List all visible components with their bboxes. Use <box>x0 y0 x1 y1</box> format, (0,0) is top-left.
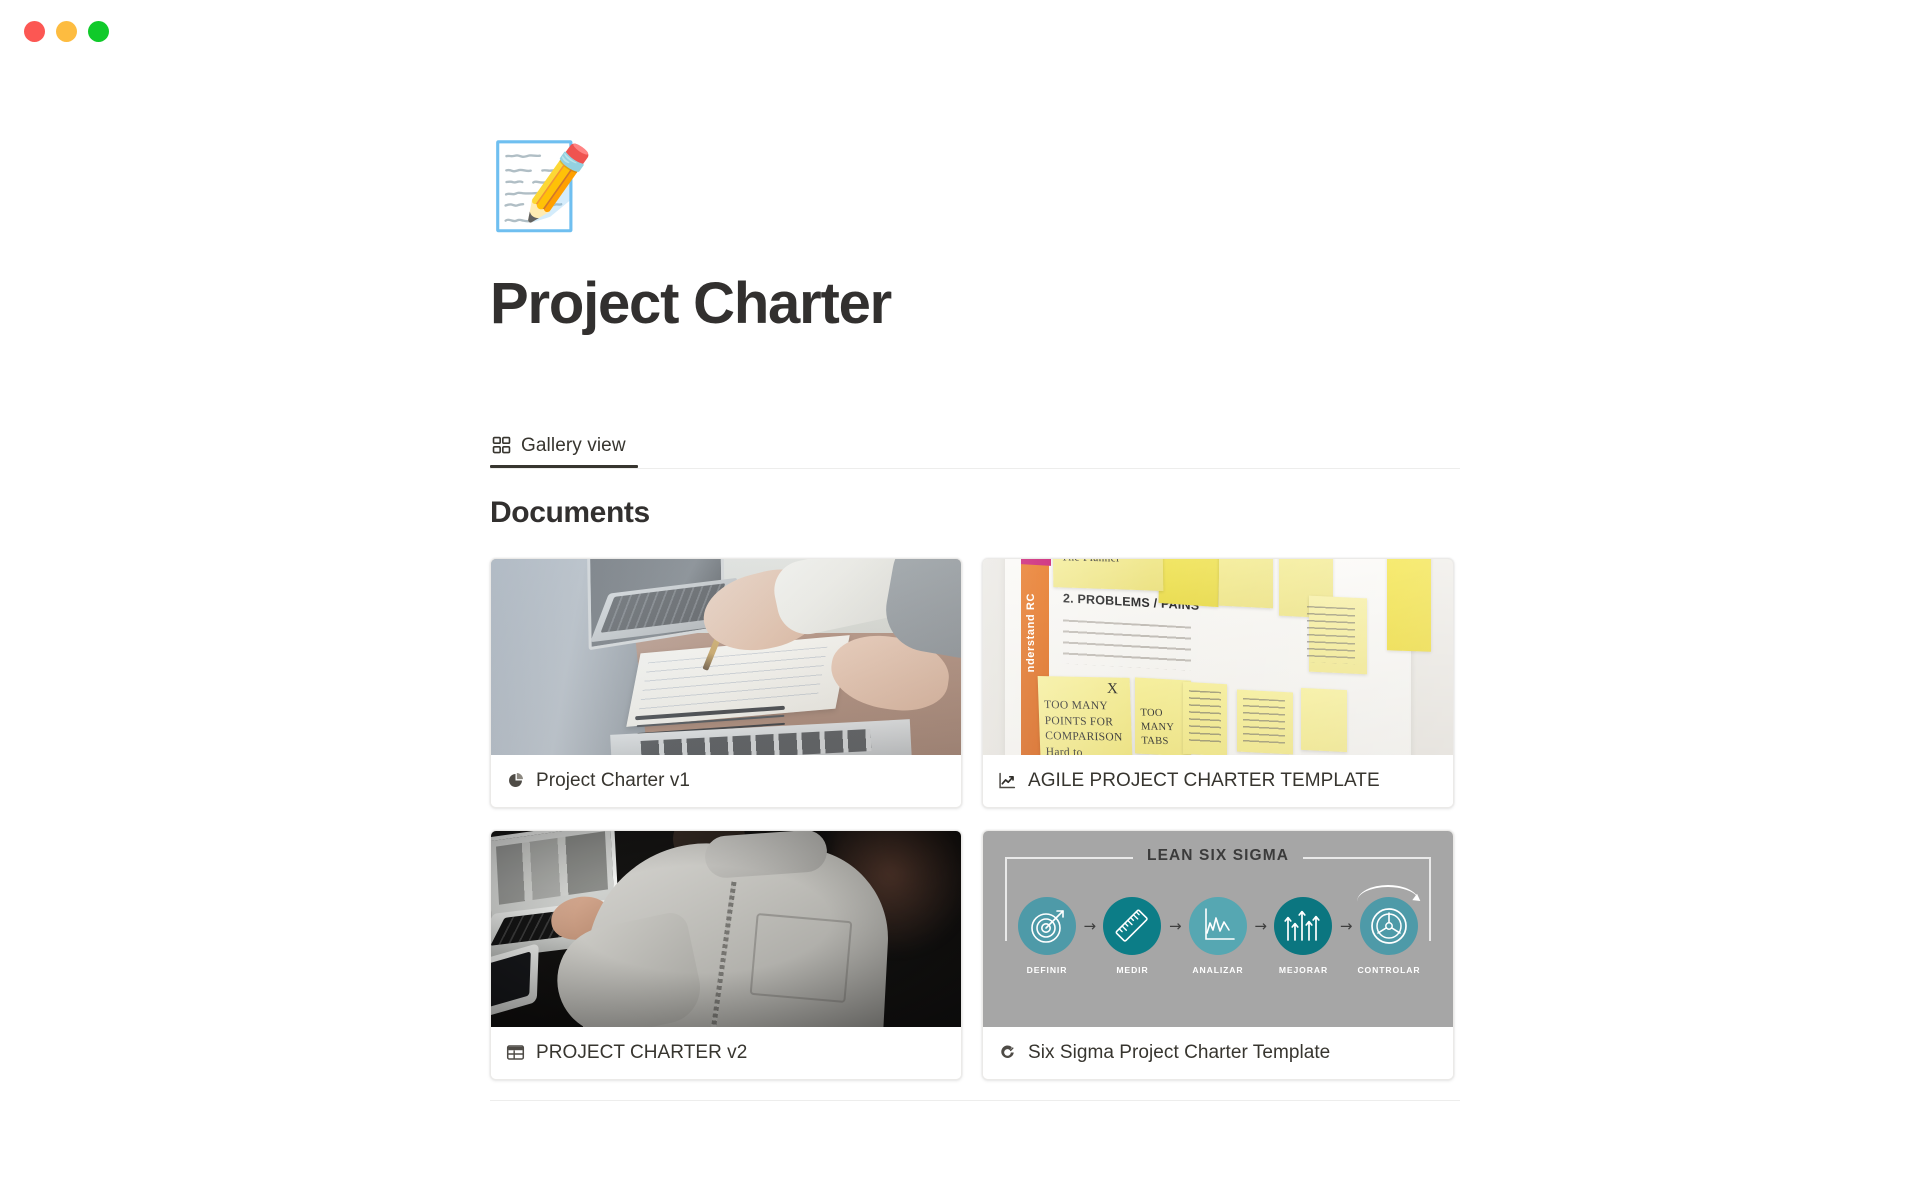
pie-chart-icon <box>506 771 525 790</box>
lss-arrow: → <box>1254 919 1267 934</box>
lss-title: LEAN SIX SIGMA <box>1133 847 1303 865</box>
gallery-card[interactable]: LEAN SIX SIGMA <box>982 830 1454 1080</box>
card-title: PROJECT CHARTER v2 <box>536 1042 747 1064</box>
lss-step-mejorar: MEJORAR <box>1269 897 1337 975</box>
page-content: 📝 Project Charter Gallery view Documents <box>490 62 1460 1101</box>
traffic-lights <box>24 21 109 42</box>
gallery-card[interactable]: PROJECT CHARTER v2 <box>490 830 962 1080</box>
minimize-window-button[interactable] <box>56 21 77 42</box>
tab-gallery-view[interactable]: Gallery view <box>490 425 638 467</box>
card-thumbnail-desk-photo <box>491 559 961 755</box>
gallery-bottom-divider <box>490 1100 1460 1101</box>
lss-step-label: MEDIR <box>1116 965 1148 975</box>
tab-gallery-view-label: Gallery view <box>521 435 626 457</box>
lss-arrow: → <box>1083 919 1096 934</box>
close-window-button[interactable] <box>24 21 45 42</box>
line-chart-icon <box>998 771 1017 790</box>
lss-step-label: DEFINIR <box>1027 965 1068 975</box>
page-title: Project Charter <box>490 274 1460 335</box>
lss-arrow: → <box>1340 919 1353 934</box>
wheel-icon <box>1360 897 1418 955</box>
lss-step-label: MEJORAR <box>1279 965 1328 975</box>
table-icon <box>506 1043 525 1062</box>
card-footer: Project Charter v1 <box>491 755 961 807</box>
gallery-card[interactable]: Project Charter v1 <box>490 558 962 808</box>
ruler-icon <box>1103 897 1161 955</box>
view-tab-bar: Gallery view <box>490 425 1460 469</box>
memo-emoji-icon[interactable]: 📝 <box>490 140 582 232</box>
gallery-card[interactable]: nderstand RC 2. PROBLEMS / PAINS The Pla… <box>982 558 1454 808</box>
window-titlebar <box>0 0 1920 62</box>
grid-icon <box>492 436 511 455</box>
lss-steps: DEFINIR → <box>1013 897 1423 975</box>
card-title: Project Charter v1 <box>536 770 690 792</box>
page-body: 📝 Project Charter Gallery view Documents <box>0 62 1920 1200</box>
card-thumbnail-sticky-notes-photo: nderstand RC 2. PROBLEMS / PAINS The Pla… <box>983 559 1453 755</box>
target-icon <box>1018 897 1076 955</box>
gallery-grid: Project Charter v1 nderstand RC 2. PROBL… <box>490 558 1460 1080</box>
lss-step-label: ANALIZAR <box>1192 965 1243 975</box>
card-thumbnail-person-laptop-photo <box>491 831 961 1027</box>
card-footer: AGILE PROJECT CHARTER TEMPLATE <box>983 755 1453 807</box>
lss-step-label: CONTROLAR <box>1357 965 1420 975</box>
card-title: AGILE PROJECT CHARTER TEMPLATE <box>1028 770 1380 792</box>
card-thumbnail-lean-six-sigma-diagram: LEAN SIX SIGMA <box>983 831 1453 1027</box>
donut-chart-icon <box>998 1043 1017 1062</box>
section-heading-documents: Documents <box>490 496 1460 530</box>
up-arrows-icon <box>1274 897 1332 955</box>
lss-step-definir: DEFINIR <box>1013 897 1081 975</box>
lss-arrow: → <box>1169 919 1182 934</box>
lss-step-controlar: CONTROLAR <box>1355 897 1423 975</box>
lss-step-analizar: ANALIZAR <box>1184 897 1252 975</box>
maximize-window-button[interactable] <box>88 21 109 42</box>
lss-step-medir: MEDIR <box>1098 897 1166 975</box>
card-title: Six Sigma Project Charter Template <box>1028 1042 1330 1064</box>
card-footer: PROJECT CHARTER v2 <box>491 1027 961 1079</box>
card-footer: Six Sigma Project Charter Template <box>983 1027 1453 1079</box>
line-graph-icon <box>1189 897 1247 955</box>
